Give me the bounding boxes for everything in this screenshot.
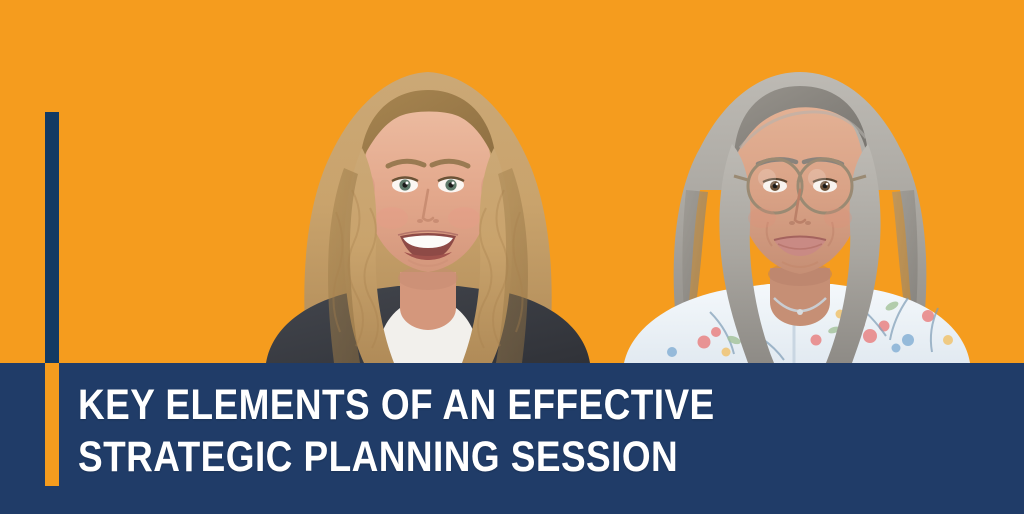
accent-bar-upper	[45, 112, 59, 363]
video-thumbnail: KEY ELEMENTS OF AN EFFECTIVE STRATEGIC P…	[0, 0, 1024, 514]
title-line-1: KEY ELEMENTS OF AN EFFECTIVE	[78, 379, 818, 431]
speaker-left-portrait	[248, 40, 608, 363]
page-title: KEY ELEMENTS OF AN EFFECTIVE STRATEGIC P…	[78, 379, 938, 483]
speakers-photo-group	[0, 0, 1024, 363]
title-line-2: STRATEGIC PLANNING SESSION	[78, 431, 818, 483]
speaker-right-portrait	[608, 40, 980, 363]
accent-bar-lower	[45, 363, 59, 486]
